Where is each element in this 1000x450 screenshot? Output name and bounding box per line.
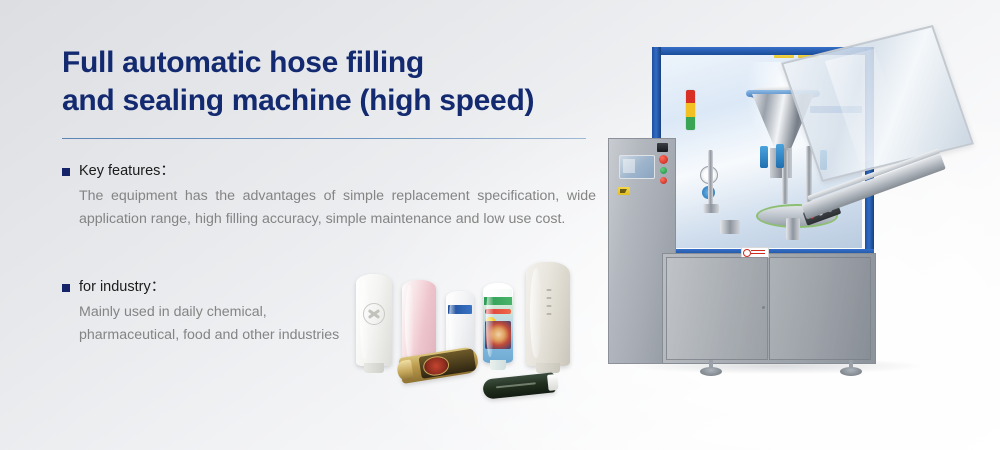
nozzle-head [703, 204, 719, 213]
sensor-blue-1 [760, 146, 768, 168]
base-door-left[interactable] [666, 257, 768, 360]
section-body: The equipment has the advantages of simp… [79, 185, 596, 231]
tube-dark-green [482, 372, 556, 399]
section-label: for industry： [79, 278, 165, 298]
sample-tubes-group [352, 256, 602, 416]
title-line-1: Full automatic hose filling [62, 44, 592, 82]
start-button[interactable] [660, 167, 667, 174]
bullet-row: Key features： [62, 162, 596, 182]
section-label: Key features： [79, 162, 175, 182]
section-body: Mainly used in daily chemical, pharmaceu… [79, 301, 362, 347]
bullet-row: for industry： [62, 278, 362, 298]
base-door-right[interactable] [769, 257, 871, 360]
power-switch[interactable] [657, 143, 668, 152]
stack-light-green [686, 117, 695, 130]
machine-photo [608, 28, 998, 400]
ce-warning-label [618, 187, 630, 195]
stack-light-tower [686, 90, 695, 130]
bullet-square-icon [62, 284, 70, 292]
filling-nozzle-shaft [708, 150, 713, 212]
emergency-stop-button[interactable] [659, 155, 668, 164]
title-line-2: and sealing machine (high speed) [62, 82, 592, 120]
hmi-touchscreen[interactable] [619, 155, 655, 179]
bullet-square-icon [62, 168, 70, 176]
base-door-lock[interactable] [762, 306, 765, 309]
tube-sunplay-sunscreen [483, 283, 513, 363]
stop-button[interactable] [660, 177, 667, 184]
stack-light-red [686, 90, 695, 103]
machine-base-cabinet [662, 253, 876, 364]
title-divider [62, 138, 586, 139]
sensor-blue-2 [776, 144, 784, 168]
feature-section-key-features: Key features： The equipment has the adva… [62, 162, 596, 231]
headline-block: Full automatic hose filling and sealing … [62, 44, 592, 121]
tube-beige-large [526, 262, 570, 366]
turntable-hub [786, 218, 800, 240]
feature-section-for-industry: for industry： Mainly used in daily chemi… [62, 278, 362, 347]
page-title: Full automatic hose filling and sealing … [62, 44, 592, 121]
leveling-foot-right [840, 360, 862, 376]
stack-light-yellow [686, 103, 695, 116]
tube-white-floral [356, 274, 392, 366]
leveling-foot-left [700, 360, 722, 376]
tube-holder [720, 220, 740, 234]
product-banner: Full automatic hose filling and sealing … [0, 0, 1000, 450]
